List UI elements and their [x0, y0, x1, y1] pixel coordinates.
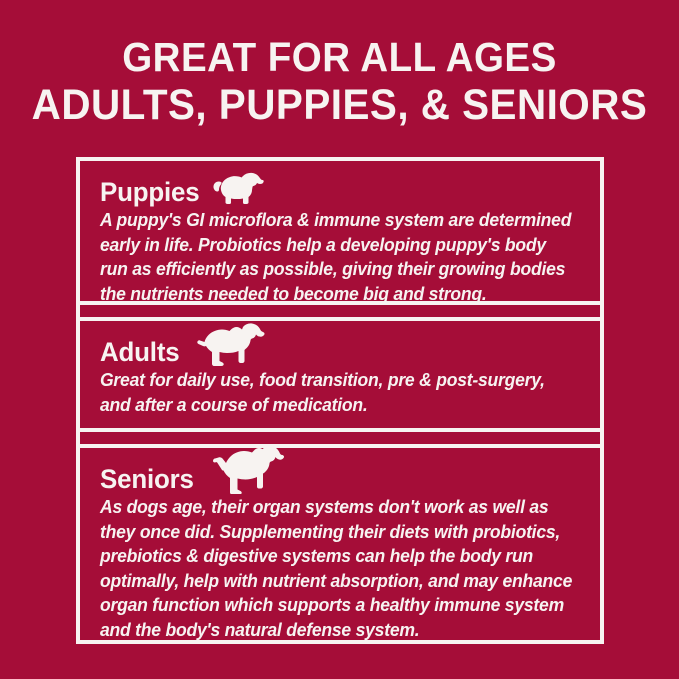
section-adults-header: Adults — [100, 331, 582, 367]
section-seniors: Seniors As dogs age, their organ systems… — [76, 444, 604, 644]
section-adults: Adults Great for daily use, food transit… — [76, 317, 604, 432]
senior-dog-icon — [210, 444, 288, 494]
section-seniors-title: Seniors — [100, 465, 194, 494]
age-sections-group: Puppies A puppy's GI microflora & immune… — [76, 157, 604, 644]
adult-dog-icon — [195, 322, 267, 367]
section-adults-body: Great for daily use, food transition, pr… — [100, 368, 576, 417]
page-title: GREAT FOR ALL AGES ADULTS, PUPPIES, & SE… — [0, 34, 679, 130]
headline-line-2: ADULTS, PUPPIES, & SENIORS — [20, 80, 658, 130]
product-info-poster: GREAT FOR ALL AGES ADULTS, PUPPIES, & SE… — [0, 0, 679, 679]
section-seniors-header: Seniors — [100, 458, 582, 494]
section-puppies-body: A puppy's GI microflora & immune system … — [100, 208, 576, 306]
puppy-dog-icon — [212, 172, 264, 206]
headline-line-1: GREAT FOR ALL AGES — [20, 34, 658, 80]
section-puppies-header: Puppies — [100, 171, 582, 207]
section-puppies: Puppies A puppy's GI microflora & immune… — [76, 157, 604, 305]
section-adults-title: Adults — [100, 338, 179, 367]
section-puppies-title: Puppies — [100, 178, 199, 207]
section-seniors-body: As dogs age, their organ systems don't w… — [100, 495, 576, 642]
